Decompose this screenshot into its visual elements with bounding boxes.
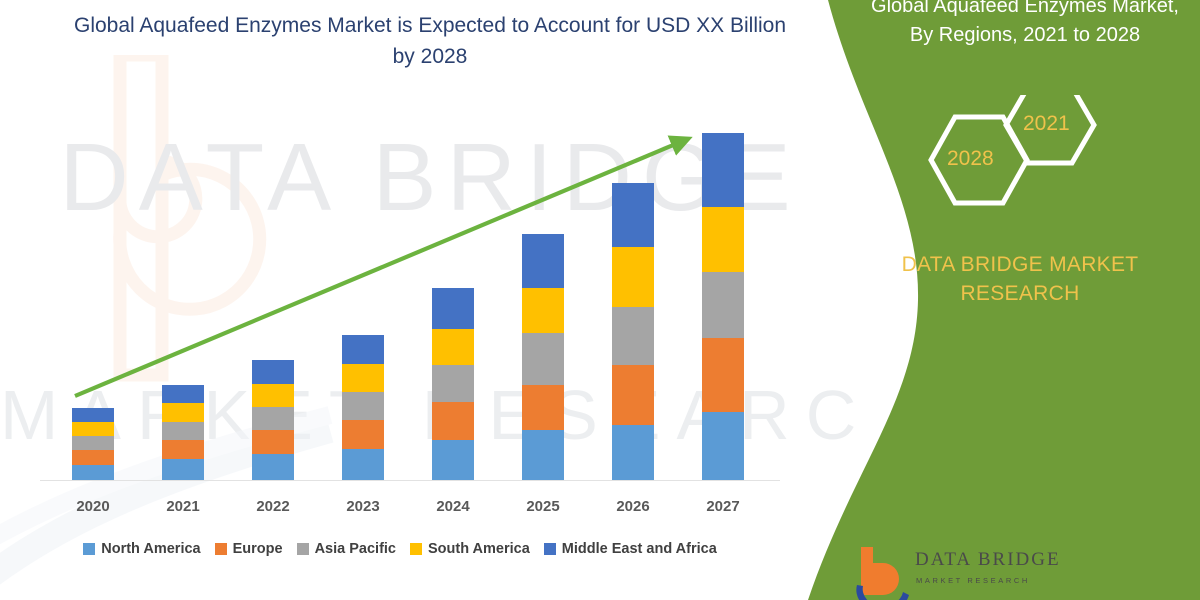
x-axis-label-2024: 2024 <box>413 498 493 515</box>
bar-segment-middle-east-and-africa[interactable] <box>162 385 204 403</box>
bar-segment-north-america[interactable] <box>612 425 654 480</box>
chart-baseline <box>40 480 780 481</box>
brand-panel: Global Aquafeed Enzymes Market, By Regio… <box>800 0 1200 600</box>
legend-item-middle-east-and-africa[interactable]: Middle East and Africa <box>544 541 717 557</box>
chart-legend: North AmericaEuropeAsia PacificSouth Ame… <box>0 541 800 557</box>
hexagon-icon-group <box>900 95 1130 225</box>
bar-segment-north-america[interactable] <box>162 459 204 480</box>
bar-2020[interactable] <box>72 408 114 480</box>
bar-segment-asia-pacific[interactable] <box>522 333 564 385</box>
bar-segment-south-america[interactable] <box>702 207 744 272</box>
bar-2024[interactable] <box>432 288 474 480</box>
bar-segment-middle-east-and-africa[interactable] <box>72 408 114 422</box>
x-axis-label-2023: 2023 <box>323 498 403 515</box>
bar-segment-north-america[interactable] <box>72 465 114 480</box>
bar-segment-asia-pacific[interactable] <box>252 407 294 430</box>
logo-subtext: MARKET RESEARCH <box>916 576 1030 585</box>
bar-segment-europe[interactable] <box>612 365 654 425</box>
legend-item-south-america[interactable]: South America <box>410 541 530 557</box>
bar-2026[interactable] <box>612 183 654 480</box>
x-axis-label-2026: 2026 <box>593 498 673 515</box>
bar-segment-asia-pacific[interactable] <box>702 272 744 338</box>
legend-swatch-icon <box>215 543 227 555</box>
bar-2022[interactable] <box>252 360 294 480</box>
x-axis-label-2021: 2021 <box>143 498 223 515</box>
legend-swatch-icon <box>410 543 422 555</box>
bar-segment-middle-east-and-africa[interactable] <box>702 133 744 207</box>
bar-segment-middle-east-and-africa[interactable] <box>252 360 294 384</box>
legend-item-north-america[interactable]: North America <box>83 541 200 557</box>
hexagon-badges: 2028 2021 <box>900 95 1130 225</box>
bar-segment-asia-pacific[interactable] <box>432 365 474 402</box>
bar-segment-south-america[interactable] <box>72 422 114 436</box>
bar-segment-europe[interactable] <box>342 420 384 449</box>
bar-segment-europe[interactable] <box>702 338 744 412</box>
x-axis-label-2022: 2022 <box>233 498 313 515</box>
bar-2021[interactable] <box>162 385 204 480</box>
bar-segment-middle-east-and-africa[interactable] <box>522 234 564 288</box>
x-axis-label-2025: 2025 <box>503 498 583 515</box>
bar-segment-europe[interactable] <box>252 430 294 454</box>
legend-label: Middle East and Africa <box>562 541 717 557</box>
legend-label: Europe <box>233 541 283 557</box>
bar-segment-south-america[interactable] <box>162 403 204 422</box>
logo-text: DATA BRIDGE <box>915 549 1061 571</box>
bar-segment-south-america[interactable] <box>432 329 474 365</box>
brand-name-line2: RESEARCH <box>960 282 1079 305</box>
legend-label: North America <box>101 541 200 557</box>
legend-swatch-icon <box>297 543 309 555</box>
bar-segment-south-america[interactable] <box>522 288 564 333</box>
bar-segment-asia-pacific[interactable] <box>162 422 204 440</box>
bar-segment-north-america[interactable] <box>702 412 744 480</box>
hexagon-2028-label: 2028 <box>947 147 994 171</box>
brand-name-line1: DATA BRIDGE MARKET <box>902 253 1139 276</box>
company-logo: DATA BRIDGE MARKET RESEARCH <box>855 545 1185 600</box>
bar-segment-north-america[interactable] <box>342 449 384 480</box>
x-axis-label-2027: 2027 <box>683 498 763 515</box>
chart-panel: DATA BRIDGE MARKET RESEARCH Global Aquaf… <box>0 0 860 600</box>
bar-segment-middle-east-and-africa[interactable] <box>342 335 384 364</box>
bar-segment-europe[interactable] <box>72 450 114 465</box>
x-axis-labels: 20202021202220232024202520262027 <box>0 498 860 522</box>
bar-segment-middle-east-and-africa[interactable] <box>612 183 654 247</box>
bar-segment-europe[interactable] <box>522 385 564 430</box>
legend-label: South America <box>428 541 530 557</box>
legend-label: Asia Pacific <box>315 541 396 557</box>
bar-segment-middle-east-and-africa[interactable] <box>432 288 474 329</box>
green-panel-shape <box>800 0 1200 600</box>
x-axis-label-2020: 2020 <box>53 498 133 515</box>
bar-segment-south-america[interactable] <box>612 247 654 307</box>
bar-segment-north-america[interactable] <box>252 454 294 480</box>
brand-name: DATA BRIDGE MARKET RESEARCH <box>850 250 1190 308</box>
bar-segment-south-america[interactable] <box>342 364 384 392</box>
bar-segment-asia-pacific[interactable] <box>72 436 114 450</box>
bar-segment-north-america[interactable] <box>432 440 474 480</box>
hexagon-2021-icon <box>1006 95 1094 163</box>
hexagon-2028-icon <box>931 117 1027 203</box>
bar-segment-north-america[interactable] <box>522 430 564 480</box>
bar-2027[interactable] <box>702 133 744 480</box>
hexagon-2021-label: 2021 <box>1023 112 1070 136</box>
bar-2025[interactable] <box>522 234 564 480</box>
bar-segment-europe[interactable] <box>162 440 204 459</box>
bar-segment-asia-pacific[interactable] <box>612 307 654 365</box>
legend-swatch-icon <box>544 543 556 555</box>
legend-item-asia-pacific[interactable]: Asia Pacific <box>297 541 396 557</box>
legend-swatch-icon <box>83 543 95 555</box>
bar-segment-europe[interactable] <box>432 402 474 440</box>
legend-item-europe[interactable]: Europe <box>215 541 283 557</box>
logo-mark-icon <box>855 545 913 600</box>
bar-2023[interactable] <box>342 335 384 480</box>
brand-panel-title: Global Aquafeed Enzymes Market, By Regio… <box>860 0 1190 50</box>
bar-segment-asia-pacific[interactable] <box>342 392 384 420</box>
bar-segment-south-america[interactable] <box>252 384 294 407</box>
